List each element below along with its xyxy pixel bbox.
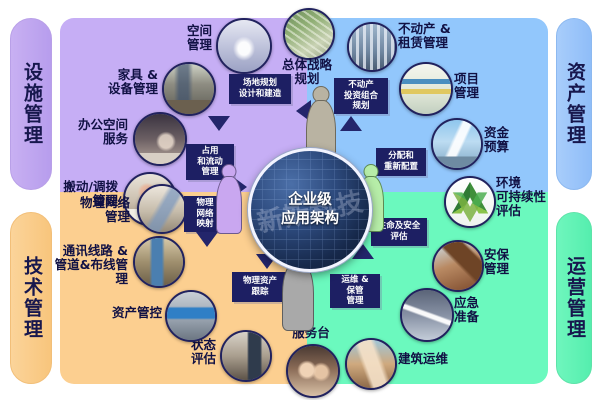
silhouette-figure-purple xyxy=(216,164,242,232)
process-box-physical-asset-tracking[interactable]: 物理资产 跟踪 xyxy=(232,272,288,302)
node-label: 资金 预算 xyxy=(484,126,530,154)
process-box-operations-custody-management[interactable]: 运维 & 保管 管理 xyxy=(330,274,380,308)
meeting-room-photo-icon xyxy=(133,112,187,166)
side-label-asset-management: 资产管理 xyxy=(556,18,592,190)
cabling-photo-icon xyxy=(137,184,187,234)
office-desk-photo-icon xyxy=(162,62,216,116)
diagram-canvas: 设施管理 技术管理 资产管理 运营管理 空间 管理 家具 & 设备管理 办公空间… xyxy=(0,0,600,400)
node-label: 通讯线路 & 管道&布线管理 xyxy=(52,244,128,286)
node-label: 建筑运维 xyxy=(398,352,460,366)
security-guard-photo-icon xyxy=(432,240,484,292)
side-label-facility-management: 设施管理 xyxy=(10,18,52,190)
node-label: 不动产 & 租赁管理 xyxy=(398,22,474,50)
side-label-operations-management: 运营管理 xyxy=(556,212,592,384)
node-label: 安保 管理 xyxy=(484,248,532,276)
node-label: 家具 & 设备管理 xyxy=(98,68,158,96)
core-title: 企业级 应用架构 xyxy=(281,191,339,229)
node-label: 应急 准备 xyxy=(454,296,502,324)
side-label-technical-management: 技术管理 xyxy=(10,212,52,384)
call-center-photo-icon xyxy=(286,344,340,398)
node-label: 资产管控 xyxy=(108,306,162,320)
arrow-up-asset xyxy=(340,116,362,131)
skyscraper-photo-icon xyxy=(347,22,397,72)
lightning-storm-photo-icon xyxy=(400,288,454,342)
corridor-photo-icon xyxy=(216,18,272,74)
node-label: 状态 评估 xyxy=(176,338,216,366)
core-globe: 新斯科技 企业级 应用架构 xyxy=(248,148,372,272)
server-monitor-photo-icon xyxy=(165,290,217,342)
inspector-photo-icon xyxy=(220,330,272,382)
process-box-site-planning-design-construction[interactable]: 场地规划 设计和建造 xyxy=(229,74,291,104)
side-label-technical-text: 技术管理 xyxy=(21,256,41,340)
side-label-asset-text: 资产管理 xyxy=(564,62,584,146)
recycle-symbol-icon xyxy=(444,176,496,228)
network-room-photo-icon xyxy=(133,236,185,288)
arrow-down-facility xyxy=(208,116,230,131)
side-label-facility-text: 设施管理 xyxy=(21,62,41,146)
side-label-operations-text: 运营管理 xyxy=(564,256,584,340)
node-label: 物理网络 管理 xyxy=(66,196,130,224)
gantt-screen-photo-icon xyxy=(399,62,453,116)
node-label: 空间 管理 xyxy=(168,24,212,52)
node-label: 项目 管理 xyxy=(454,72,500,100)
node-label: 环境 可持续性 评估 xyxy=(496,176,558,218)
maintenance-hands-photo-icon xyxy=(345,338,397,390)
node-label: 办公空间 服务 xyxy=(70,118,128,146)
process-box-real-estate-portfolio-planning[interactable]: 不动产 投资组合 规划 xyxy=(334,78,388,114)
arrow-down-network xyxy=(196,232,218,247)
city-aerial-photo-icon xyxy=(283,8,335,60)
bridge-photo-icon xyxy=(431,118,483,170)
